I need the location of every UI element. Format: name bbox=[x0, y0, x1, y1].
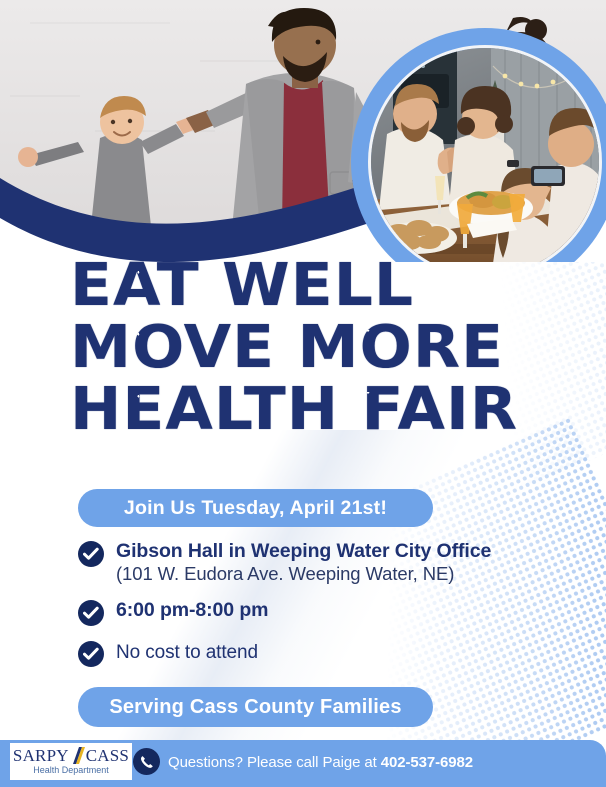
phone-icon bbox=[133, 748, 160, 775]
check-icon bbox=[78, 600, 104, 626]
sarpy-cass-logo: SARPY CASS Health Department bbox=[10, 743, 132, 780]
detail-location: Gibson Hall in Weeping Water City Office… bbox=[116, 540, 491, 585]
flyer-canvas: EAT WELL MOVE MORE HEALTH FAIR Join Us T… bbox=[0, 0, 606, 787]
check-icon bbox=[78, 541, 104, 567]
event-details-list: Gibson Hall in Weeping Water City Office… bbox=[78, 540, 578, 681]
family-dinner-photo bbox=[368, 45, 602, 262]
logo-sarpy-text: SARPY bbox=[13, 747, 69, 764]
contact-phone-number: 402-537-6982 bbox=[381, 754, 473, 771]
logo-wordmark: SARPY CASS bbox=[13, 747, 129, 764]
list-item: Gibson Hall in Weeping Water City Office… bbox=[78, 540, 578, 585]
list-item: 6:00 pm-8:00 pm bbox=[78, 599, 578, 626]
page-title: EAT WELL MOVE MORE HEALTH FAIR bbox=[70, 256, 540, 442]
list-item: No cost to attend bbox=[78, 640, 578, 667]
detail-location-main: Gibson Hall in Weeping Water City Office bbox=[116, 540, 491, 562]
logo-subtitle: Health Department bbox=[33, 765, 109, 776]
detail-cost: No cost to attend bbox=[116, 640, 258, 666]
detail-time: 6:00 pm-8:00 pm bbox=[116, 599, 268, 621]
headline-line-2: MOVE MORE bbox=[70, 318, 559, 376]
headline-line-3: HEALTH FAIR bbox=[70, 380, 559, 438]
contact-prefix: Questions? Please call Paige at bbox=[168, 754, 377, 771]
logo-slash-icon bbox=[70, 747, 85, 764]
check-icon bbox=[78, 641, 104, 667]
detail-location-address: (101 W. Eudora Ave. Weeping Water, NE) bbox=[116, 563, 454, 584]
serving-area-badge: Serving Cass County Families bbox=[78, 687, 433, 727]
contact-line: Questions? Please call Paige at 402-537-… bbox=[168, 754, 473, 771]
event-date-badge: Join Us Tuesday, April 21st! bbox=[78, 489, 433, 527]
logo-cass-text: CASS bbox=[86, 747, 129, 764]
hero-photo-area bbox=[0, 0, 606, 262]
event-date-label: Join Us Tuesday, April 21st! bbox=[124, 497, 387, 520]
serving-area-label: Serving Cass County Families bbox=[109, 696, 401, 719]
headline-line-1: EAT WELL bbox=[70, 256, 559, 314]
